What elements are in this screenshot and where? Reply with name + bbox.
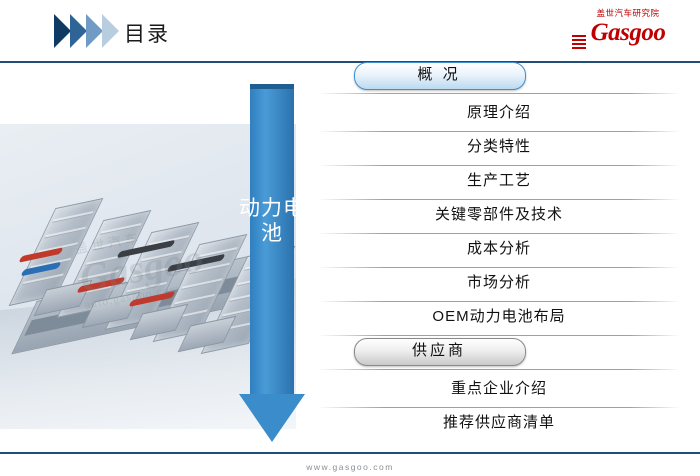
toc-item-classification[interactable]: 分类特性 <box>318 134 680 166</box>
arrow-label: 动力电池 <box>239 196 305 246</box>
toc-item-label: 概 况 <box>354 62 524 88</box>
toc-divider <box>318 369 680 370</box>
toc-item-manufacturing[interactable]: 生产工艺 <box>318 168 680 200</box>
toc-divider <box>318 335 680 336</box>
toc-divider <box>318 131 680 132</box>
logo-chinese-text: 盖世汽车研究院 <box>570 8 686 19</box>
logo-bars-icon <box>572 35 586 51</box>
toc-item-label: 成本分析 <box>318 236 680 262</box>
toc-item-principle[interactable]: 原理介绍 <box>318 100 680 132</box>
logo-wordmark-text: Gasgoo <box>591 19 666 46</box>
toc-item-oem-layout[interactable]: OEM动力电池布局 <box>318 304 680 336</box>
toc-item-label: 供应商 <box>354 338 524 364</box>
toc-item-label: 原理介绍 <box>318 100 680 126</box>
toc-divider <box>318 199 680 200</box>
toc-item-label: 重点企业介绍 <box>318 376 680 402</box>
toc-item-label: 市场分析 <box>318 270 680 296</box>
down-arrow-graphic: 动力电池 <box>239 84 305 444</box>
toc-item-suppliers[interactable]: 供应商 <box>318 338 680 370</box>
toc-item-label: 分类特性 <box>318 134 680 160</box>
table-of-contents: 概 况 原理介绍 分类特性 生产工艺 关键零部件及技术 成本分析 市场分析 <box>318 62 680 446</box>
toc-item-key-companies[interactable]: 重点企业介绍 <box>318 376 680 408</box>
chevron-decoration-2 <box>70 14 87 48</box>
toc-divider <box>318 233 680 234</box>
toc-item-label: 关键零部件及技术 <box>318 202 680 228</box>
toc-divider <box>318 301 680 302</box>
slide: 目录 盖世汽车研究院 Gasgoo <box>0 0 700 476</box>
toc-item-recommended-suppliers[interactable]: 推荐供应商清单 <box>318 410 680 442</box>
page-title: 目录 <box>124 18 170 48</box>
chevron-decoration-1 <box>54 14 71 48</box>
toc-item-cost-analysis[interactable]: 成本分析 <box>318 236 680 268</box>
arrow-top-cap <box>250 84 294 89</box>
toc-divider <box>318 165 680 166</box>
toc-divider <box>318 93 680 94</box>
toc-item-overview[interactable]: 概 况 <box>318 62 680 94</box>
toc-item-label: OEM动力电池布局 <box>318 304 680 330</box>
gasgoo-logo: 盖世汽车研究院 Gasgoo <box>570 8 686 54</box>
toc-item-label: 推荐供应商清单 <box>318 410 680 436</box>
toc-item-label: 生产工艺 <box>318 168 680 194</box>
chevron-decoration-4 <box>102 14 119 48</box>
toc-item-market-analysis[interactable]: 市场分析 <box>318 270 680 302</box>
footer-url: www.gasgoo.com <box>0 462 700 472</box>
chevron-decoration-3 <box>86 14 103 48</box>
toc-item-key-components[interactable]: 关键零部件及技术 <box>318 202 680 234</box>
arrow-head-icon <box>239 394 305 442</box>
logo-wordmark: Gasgoo <box>570 19 686 47</box>
footer-divider <box>0 452 700 454</box>
toc-divider <box>318 267 680 268</box>
slide-header: 目录 盖世汽车研究院 Gasgoo <box>0 0 700 62</box>
toc-divider <box>318 407 680 408</box>
